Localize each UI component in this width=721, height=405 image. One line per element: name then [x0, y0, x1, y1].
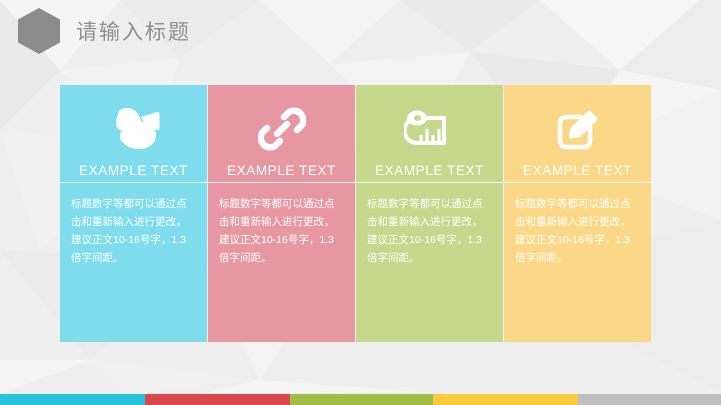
card-heading: EXAMPLE TEXT	[523, 163, 632, 178]
card-top-section: EXAMPLE TEXT	[208, 85, 355, 182]
bar-segment-gray	[578, 394, 721, 405]
card-body-text: 标题数字等都可以通过点击和重新输入进行更改，建议正文10-16号字，1.3倍字间…	[504, 183, 651, 342]
slide-header: 请输入标题	[0, 0, 721, 62]
card-heading: EXAMPLE TEXT	[375, 163, 484, 178]
feature-card-2[interactable]: EXAMPLE TEXT 标题数字等都可以通过点击和重新输入进行更改，建议正文1…	[208, 85, 355, 342]
bar-segment-cyan	[0, 394, 145, 405]
bar-segment-green	[290, 394, 433, 405]
card-top-section: EXAMPLE TEXT	[60, 85, 207, 182]
flexed-biceps-icon	[108, 101, 160, 157]
feature-card-3[interactable]: EXAMPLE TEXT 标题数字等都可以通过点击和重新输入进行更改，建议正文1…	[356, 85, 503, 342]
tape-measure-icon	[404, 101, 456, 157]
card-body-text: 标题数字等都可以通过点击和重新输入进行更改，建议正文10-16号字，1.3倍字间…	[356, 183, 503, 342]
bar-segment-red	[145, 394, 290, 405]
card-heading: EXAMPLE TEXT	[227, 163, 336, 178]
card-heading: EXAMPLE TEXT	[79, 163, 188, 178]
card-body-text: 标题数字等都可以通过点击和重新输入进行更改，建议正文10-16号字，1.3倍字间…	[208, 183, 355, 342]
hexagon-icon	[18, 8, 60, 54]
bottom-color-bar	[0, 394, 721, 405]
edit-pencil-square-icon	[554, 101, 602, 157]
feature-card-4[interactable]: EXAMPLE TEXT 标题数字等都可以通过点击和重新输入进行更改，建议正文1…	[504, 85, 651, 342]
page-title: 请输入标题	[76, 16, 191, 46]
bar-segment-yellow	[433, 394, 578, 405]
chain-link-icon	[258, 101, 306, 157]
feature-card-row: EXAMPLE TEXT 标题数字等都可以通过点击和重新输入进行更改，建议正文1…	[60, 85, 651, 342]
card-top-section: EXAMPLE TEXT	[356, 85, 503, 182]
slide-canvas: 请输入标题 EXAMPLE TEXT 标题数字等都可以通过点击和重新输入进行更改…	[0, 0, 721, 405]
card-top-section: EXAMPLE TEXT	[504, 85, 651, 182]
card-body-text: 标题数字等都可以通过点击和重新输入进行更改，建议正文10-16号字，1.3倍字间…	[60, 183, 207, 342]
feature-card-1[interactable]: EXAMPLE TEXT 标题数字等都可以通过点击和重新输入进行更改，建议正文1…	[60, 85, 207, 342]
